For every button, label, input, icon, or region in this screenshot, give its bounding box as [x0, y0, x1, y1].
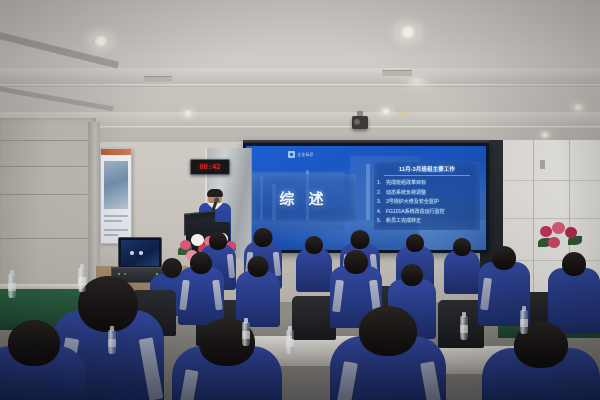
downlight-9: [540, 132, 550, 138]
led-clock-display: 08:42: [190, 159, 230, 175]
agenda-item: 完成班组改革目标: [386, 179, 478, 189]
water-bottle: [8, 274, 16, 298]
downlight-4: [380, 108, 392, 115]
slide-title: 综 述: [279, 188, 328, 209]
slide-title-card: 综 述: [252, 174, 356, 222]
downlight-3: [182, 110, 194, 117]
presenter-hair: [207, 189, 223, 197]
wall-camera-mount: [540, 160, 545, 169]
attendee: [172, 318, 282, 400]
water-bottle: [286, 330, 294, 354]
poster-header-bar: [101, 149, 131, 155]
poster-image: [104, 161, 128, 209]
attendee: [296, 236, 332, 290]
meeting-room-photo: 企业标识 综 述 11月-3月班组主要工作 完成班组改革目标 动态系统负荷调整 …: [0, 0, 600, 400]
attendee: [236, 256, 280, 324]
ceiling-band-upper: [0, 68, 600, 84]
led-clock-digits: 08:42: [199, 163, 220, 171]
attendee: [178, 252, 224, 322]
agenda-divider: [384, 175, 470, 176]
slide-logo-text: 企业标识: [297, 152, 313, 158]
water-bottle: [78, 268, 86, 292]
agenda-item: 动态系统负荷调整: [386, 189, 478, 199]
downlight-2: [398, 26, 418, 38]
framed-display-board: [100, 148, 132, 244]
ceiling-projector: [352, 116, 368, 129]
attendee: [548, 252, 600, 332]
slide-logo: 企业标识: [288, 151, 314, 158]
water-bottle: [108, 330, 116, 354]
attendee: [330, 306, 446, 400]
water-bottle: [460, 316, 468, 340]
ceiling-soffit-edge: [0, 84, 600, 87]
downlight-1: [92, 36, 110, 46]
agenda-item: 新员工完成转正: [386, 217, 478, 227]
agenda-item: FG101A系统改造运行监控: [386, 208, 478, 218]
attendee: [444, 238, 480, 292]
floral-arrangement-right: [536, 222, 584, 256]
attendee: [0, 320, 86, 400]
slide-agenda-list: 完成班组改革目标 动态系统负荷调整 3号锅炉大修及安全监护 FG101A系统改造…: [376, 179, 478, 227]
water-bottle: [520, 310, 528, 334]
water-bottle: [242, 322, 250, 346]
attendee: [482, 322, 600, 400]
air-conditioning-vent-left: [144, 76, 172, 83]
air-conditioning-vent-right: [382, 70, 412, 77]
agenda-item: 3号锅炉大修及安全监护: [386, 198, 478, 208]
slide-agenda-panel: 11月-3月班组主要工作 完成班组改革目标 动态系统负荷调整 3号锅炉大修及安全…: [374, 162, 480, 230]
downlight-8: [404, 78, 430, 86]
slide-agenda-title: 11月-3月班组主要工作: [376, 165, 478, 173]
downlight-5: [572, 104, 584, 111]
company-logo-mark: [288, 151, 295, 158]
